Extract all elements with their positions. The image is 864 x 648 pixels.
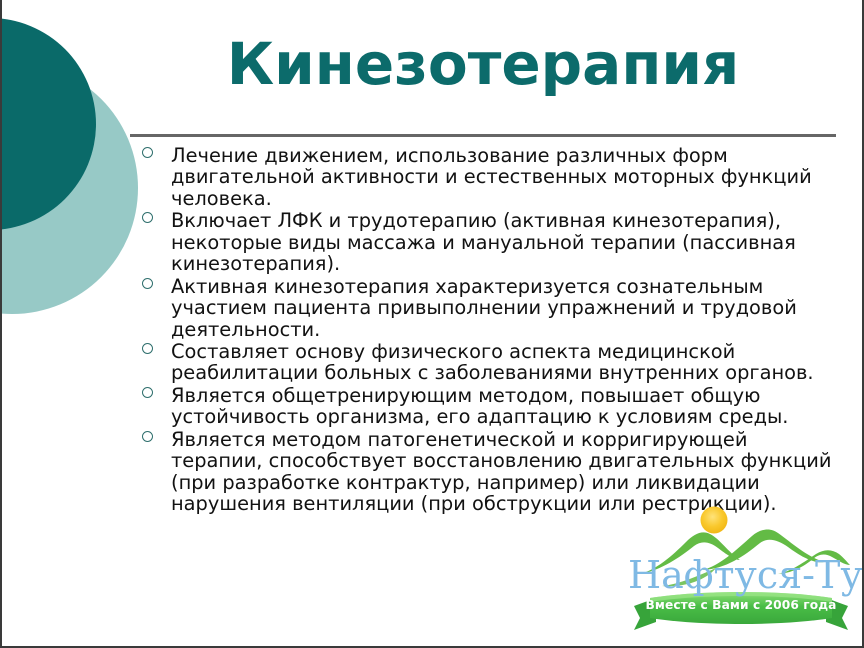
decorative-circle-light (0, 62, 138, 314)
hollow-circle-bullet-icon (142, 387, 153, 398)
title-area: Кинезотерапия (130, 8, 836, 120)
list-item-text: Активная кинезотерапия характеризуется с… (171, 275, 797, 341)
logo-graphic (628, 494, 854, 644)
list-item-text: Включает ЛФК и трудотерапию (активная ки… (171, 209, 796, 275)
bullet-list: Лечение движением, использование различн… (138, 145, 838, 514)
ribbon-banner-icon (634, 592, 848, 630)
list-item: Составляет основу физического аспекта ме… (138, 341, 838, 384)
hollow-circle-bullet-icon (142, 212, 153, 223)
list-item: Является методом патогенетической и корр… (138, 429, 838, 515)
content-body: Лечение движением, использование различн… (138, 145, 838, 515)
list-item: Является общетренирующим методом, повыша… (138, 385, 838, 428)
hollow-circle-bullet-icon (142, 343, 153, 354)
list-item: Включает ЛФК и трудотерапию (активная ки… (138, 210, 838, 274)
logo-ribbon-text: Вместе с Вами с 2006 года (628, 598, 854, 612)
hollow-circle-bullet-icon (142, 431, 153, 442)
mountains-icon (640, 529, 850, 586)
hollow-circle-bullet-icon (142, 147, 153, 158)
watermark-logo: Нафтуся-Тур Вместе с Вами с 2006 года (628, 494, 854, 644)
logo-wordmark: Нафтуся-Тур (628, 556, 854, 594)
list-item-text: Составляет основу физического аспекта ме… (171, 340, 814, 384)
list-item-text: Является общетренирующим методом, повыша… (171, 384, 788, 428)
list-item-text: Лечение движением, использование различн… (171, 144, 812, 210)
list-item-text: Является методом патогенетической и корр… (171, 428, 831, 515)
title-divider (130, 134, 836, 137)
page-title: Кинезотерапия (227, 34, 740, 95)
decorative-circle-dark (0, 18, 96, 230)
list-item: Лечение движением, использование различн… (138, 145, 838, 209)
hollow-circle-bullet-icon (142, 278, 153, 289)
list-item: Активная кинезотерапия характеризуется с… (138, 276, 838, 340)
presentation-slide: Кинезотерапия Лечение движением, использ… (0, 0, 864, 648)
